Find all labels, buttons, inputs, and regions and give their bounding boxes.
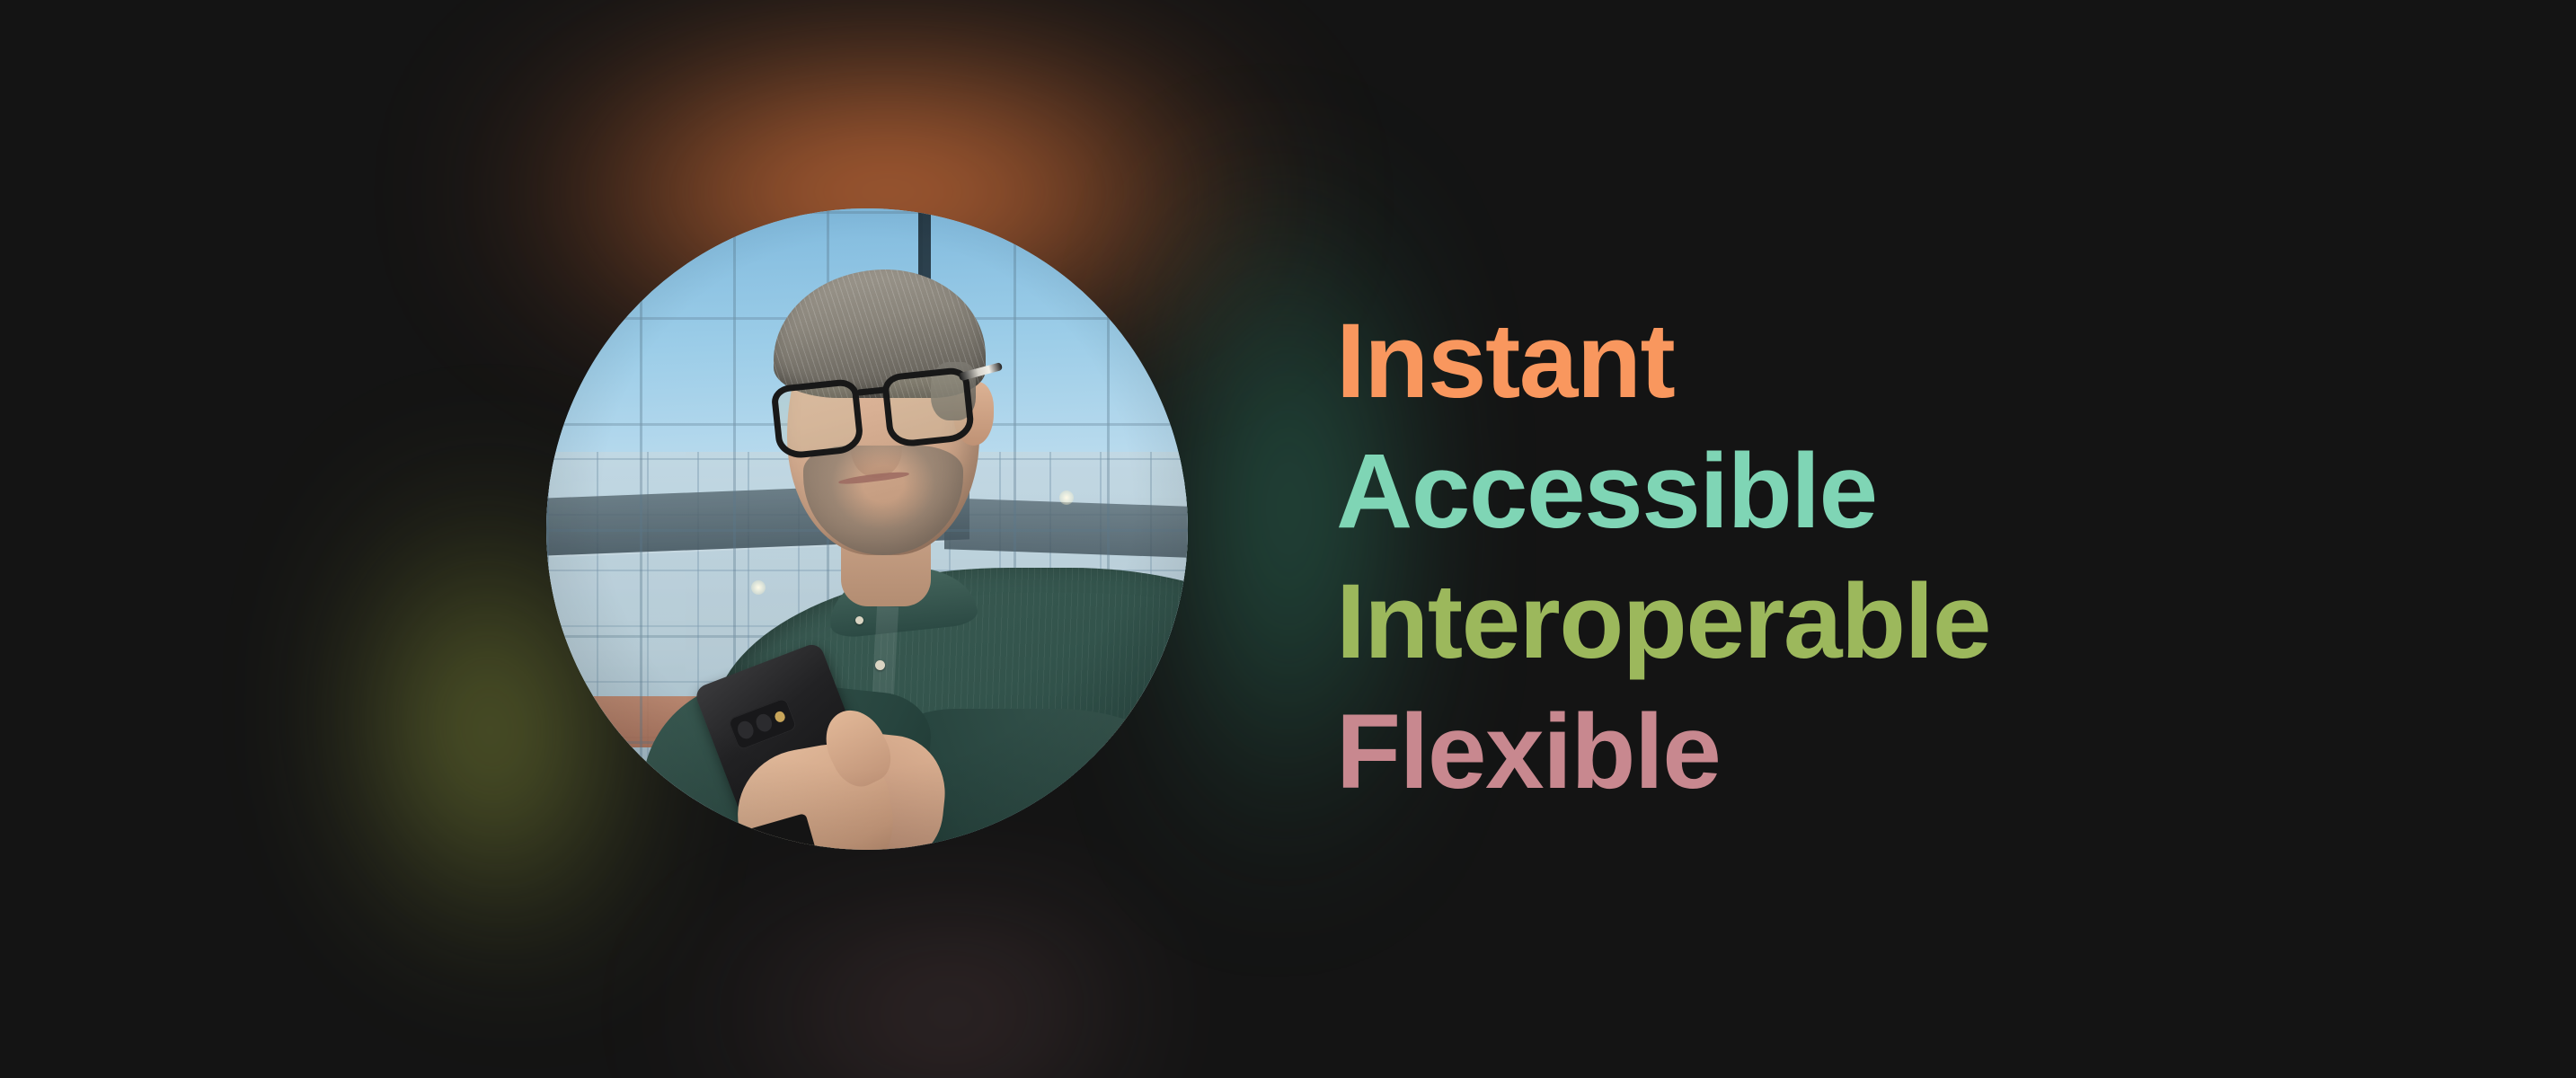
headline-item-instant: Instant	[1336, 296, 2235, 427]
circular-photo-block	[546, 208, 1188, 850]
headline-item-flexible: Flexible	[1336, 687, 2235, 817]
headline-list: Instant Accessible Interoperable Flexibl…	[1336, 296, 2235, 817]
hero-banner: Instant Accessible Interoperable Flexibl…	[0, 0, 2576, 1078]
phone-camera-module	[728, 697, 798, 751]
photo-circle-mask	[546, 208, 1188, 850]
photo-scene	[546, 208, 1188, 850]
headline-item-accessible: Accessible	[1336, 427, 2235, 557]
eyeglass-lens-left	[771, 378, 865, 461]
camera-flash	[774, 711, 786, 723]
camera-lens	[735, 719, 757, 741]
headline-item-interoperable: Interoperable	[1336, 557, 2235, 687]
camera-lens	[754, 711, 775, 734]
